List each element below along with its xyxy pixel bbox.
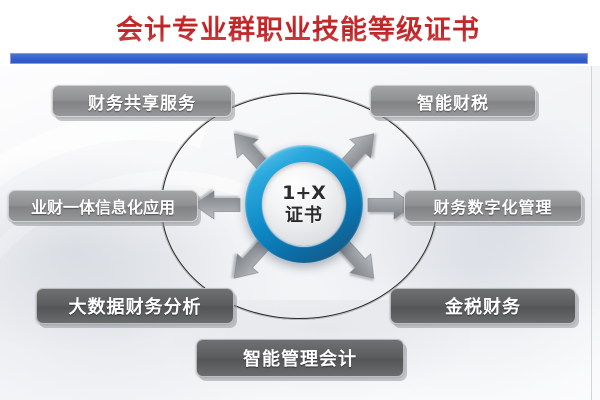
node-golden-tax-finance[interactable]: 金税财务 <box>390 288 576 324</box>
node-label: 金税财务 <box>445 293 521 319</box>
hub-label-line1: 1+X <box>282 182 326 204</box>
node-intelligent-management-accounting[interactable]: 智能管理会计 <box>196 339 404 377</box>
node-label: 财务数字化管理 <box>433 194 552 218</box>
node-business-finance-integration[interactable]: 业财一体信息化应用 <box>8 190 198 222</box>
node-label: 业财一体信息化应用 <box>31 194 175 218</box>
node-financial-digital-management[interactable]: 财务数字化管理 <box>404 190 582 222</box>
node-label: 智能财税 <box>417 89 489 114</box>
node-big-data-financial-analysis[interactable]: 大数据财务分析 <box>36 288 234 324</box>
page-title: 会计专业群职业技能等级证书 <box>0 8 596 47</box>
header-band: 会计专业群职业技能等级证书 <box>0 0 600 66</box>
node-label: 智能管理会计 <box>243 345 357 371</box>
center-hub-face: 1+X 证书 <box>262 162 346 246</box>
title-underline-bar <box>10 53 588 64</box>
node-intelligent-finance-tax[interactable]: 智能财税 <box>370 85 536 117</box>
node-label: 大数据财务分析 <box>69 293 202 319</box>
diagram-canvas: 会计专业群职业技能等级证书 <box>0 0 600 400</box>
node-financial-shared-services[interactable]: 财务共享服务 <box>52 85 232 117</box>
node-label: 财务共享服务 <box>88 89 196 114</box>
hub-label-line2: 证书 <box>285 205 323 226</box>
center-hub-ring: 1+X 证书 <box>245 145 363 263</box>
